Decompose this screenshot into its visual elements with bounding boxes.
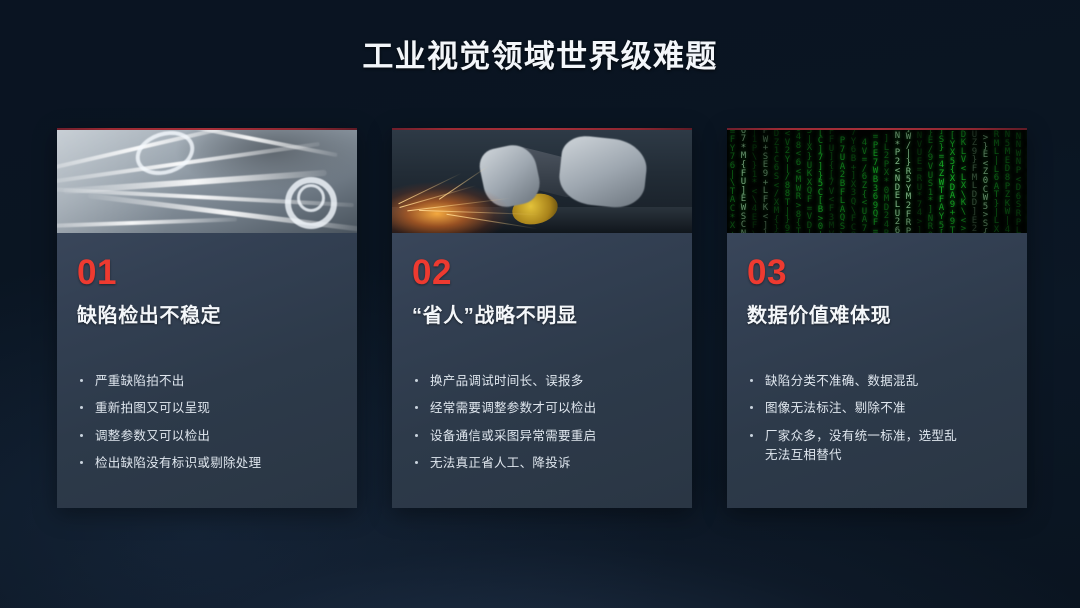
page-title: 工业视觉领域世界级难题 xyxy=(0,31,1080,76)
bullet-text-continuation: 无法互相替代 xyxy=(765,446,1007,465)
problem-card-01[interactable]: 01 缺陷检出不稳定 严重缺陷拍不出 重新拍图又可以呈现 调整参数又可以检出 检… xyxy=(57,128,357,508)
list-item: 图像无法标注、剔除不准 xyxy=(749,399,1007,418)
card-body-01: 01 缺陷检出不稳定 严重缺陷拍不出 重新拍图又可以呈现 调整参数又可以检出 检… xyxy=(57,233,357,508)
bullet-text: 检出缺陷没有标识或剔除处理 xyxy=(95,456,261,470)
matrix-green-code-photo: X X T 4 L V > [ | 5 V B 2 } C { 9 2 U F … xyxy=(727,130,1027,233)
bullet-text: 严重缺陷拍不出 xyxy=(95,374,185,388)
bullet-text: 厂家众多，没有统一标准，选型乱 xyxy=(765,429,957,443)
list-item: 缺陷分类不准确、数据混乱 xyxy=(749,372,1007,391)
card-photo-02 xyxy=(392,130,692,233)
list-item: 调整参数又可以检出 xyxy=(79,427,337,446)
list-item: 严重缺陷拍不出 xyxy=(79,372,337,391)
list-item: 经常需要调整参数才可以检出 xyxy=(414,399,672,418)
bullet-text: 缺陷分类不准确、数据混乱 xyxy=(765,374,919,388)
bullet-dot-icon xyxy=(415,406,418,409)
card-bullet-list-01: 严重缺陷拍不出 重新拍图又可以呈现 调整参数又可以检出 检出缺陷没有标识或剔除处… xyxy=(79,372,337,474)
card-photo-01 xyxy=(57,130,357,233)
card-body-03: 03 数据价值难体现 缺陷分类不准确、数据混乱 图像无法标注、剔除不准 厂家众多… xyxy=(727,233,1027,508)
list-item: 无法真正省人工、降投诉 xyxy=(414,454,672,473)
card-photo-03: X X T 4 L V > [ | 5 V B 2 } C { 9 2 U F … xyxy=(727,130,1027,233)
card-body-02: 02 “省人”战略不明显 换产品调试时间长、误报多 经常需要调整参数才可以检出 … xyxy=(392,233,692,508)
bullet-dot-icon xyxy=(80,406,83,409)
angle-grinder-sparks-photo xyxy=(392,130,692,233)
slide-canvas: 工业视觉领域世界级难题 xyxy=(0,0,1080,608)
bullet-text: 经常需要调整参数才可以检出 xyxy=(430,401,596,415)
bullet-text: 图像无法标注、剔除不准 xyxy=(765,401,906,415)
card-row: 01 缺陷检出不稳定 严重缺陷拍不出 重新拍图又可以呈现 调整参数又可以检出 检… xyxy=(57,128,1027,510)
bullet-dot-icon xyxy=(415,434,418,437)
bullet-text: 调整参数又可以检出 xyxy=(95,429,210,443)
problem-card-02[interactable]: 02 “省人”战略不明显 换产品调试时间长、误报多 经常需要调整参数才可以检出 … xyxy=(392,128,692,508)
bullet-dot-icon xyxy=(750,406,753,409)
bullet-dot-icon xyxy=(415,461,418,464)
bullet-dot-icon xyxy=(750,379,753,382)
bullet-dot-icon xyxy=(80,461,83,464)
card-subtitle: “省人”战略不明显 xyxy=(412,299,672,328)
card-number: 01 xyxy=(77,255,337,290)
bullet-dot-icon xyxy=(80,379,83,382)
card-bullet-list-03: 缺陷分类不准确、数据混乱 图像无法标注、剔除不准 厂家众多，没有统一标准，选型乱… xyxy=(749,372,1007,466)
list-item: 换产品调试时间长、误报多 xyxy=(414,372,672,391)
card-subtitle: 缺陷检出不稳定 xyxy=(77,299,337,328)
list-item: 检出缺陷没有标识或剔除处理 xyxy=(79,454,337,473)
list-item: 厂家众多，没有统一标准，选型乱无法互相替代 xyxy=(749,427,1007,466)
card-number: 02 xyxy=(412,255,672,290)
card-subtitle: 数据价值难体现 xyxy=(747,299,1007,328)
bullet-text: 换产品调试时间长、误报多 xyxy=(430,374,584,388)
card-number: 03 xyxy=(747,255,1007,290)
bullet-text: 重新拍图又可以呈现 xyxy=(95,401,210,415)
bullet-dot-icon xyxy=(80,434,83,437)
bullet-dot-icon xyxy=(415,379,418,382)
bullet-dot-icon xyxy=(750,434,753,437)
bullet-text: 无法真正省人工、降投诉 xyxy=(430,456,571,470)
list-item: 重新拍图又可以呈现 xyxy=(79,399,337,418)
card-bullet-list-02: 换产品调试时间长、误报多 经常需要调整参数才可以检出 设备通信或采图异常需要重启… xyxy=(414,372,672,474)
list-item: 设备通信或采图异常需要重启 xyxy=(414,427,672,446)
problem-card-03[interactable]: X X T 4 L V > [ | 5 V B 2 } C { 9 2 U F … xyxy=(727,128,1027,508)
bullet-text: 设备通信或采图异常需要重启 xyxy=(430,429,596,443)
glass-metal-rods-photo xyxy=(57,130,357,233)
